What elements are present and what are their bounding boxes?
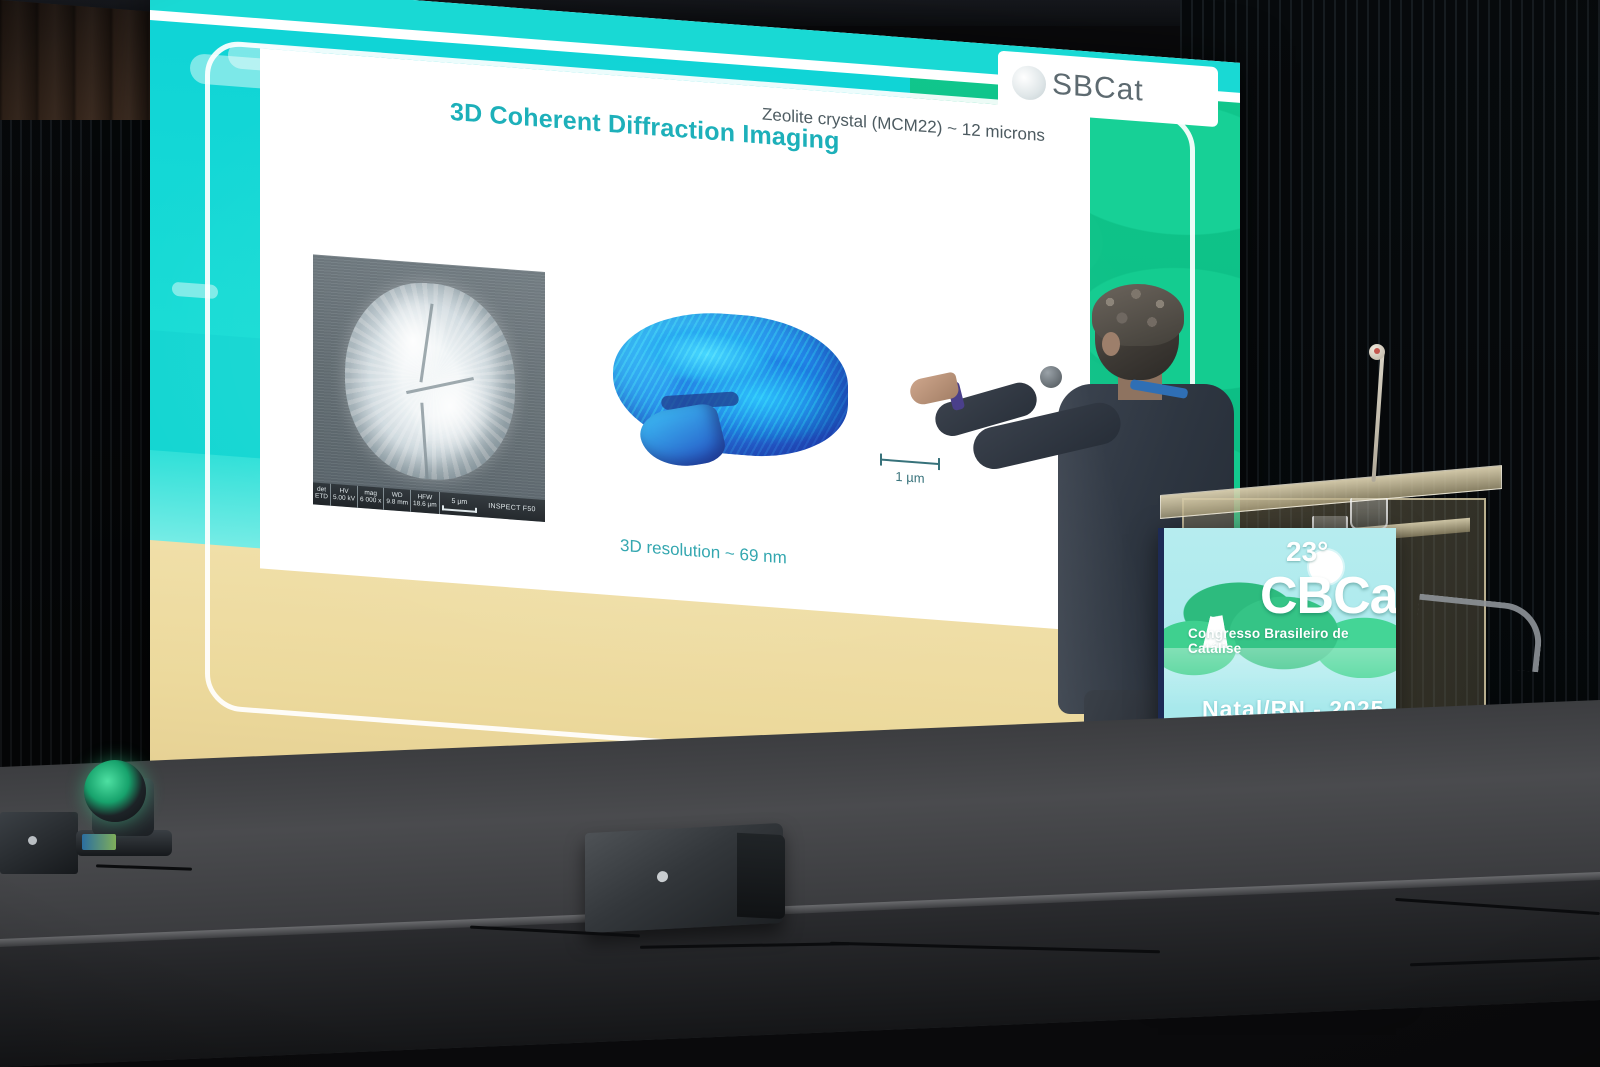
- scale-bar-mid: [880, 459, 940, 466]
- sem-databar-value: ETD: [315, 494, 328, 502]
- sem-databar-cell: det ETD: [313, 482, 331, 505]
- speaker-driver-icon: [28, 836, 37, 845]
- sem-databar-cell: mag 6 000 x: [358, 486, 384, 510]
- micron-scale-bar: 1 µm: [880, 454, 940, 488]
- stage-monitor-speaker: [0, 812, 78, 874]
- sem-databar-value: 18.6 µm: [413, 501, 437, 510]
- water-cup: [1350, 498, 1388, 530]
- presentation-photo-scene: SBCat 3D Coherent Diffraction Imaging Ze…: [0, 0, 1600, 1067]
- moving-head-light: [72, 748, 172, 858]
- sem-databar-cell: HFW 18.6 µm: [411, 490, 440, 514]
- sem-databar-value: 6 000 x: [360, 497, 381, 505]
- sem-databar-value: 5.00 kV: [333, 495, 355, 503]
- sem-scale-bar-line: [442, 505, 477, 513]
- sbcat-logo-text: SBCat: [1052, 68, 1144, 109]
- sem-databar-value: 9.8 mm: [386, 499, 408, 507]
- banner-edition: 23°: [1286, 536, 1328, 568]
- sem-databar-cell: WD 9.8 mm: [384, 488, 411, 512]
- light-lens-icon: [84, 760, 146, 822]
- sbcat-sphere-icon: [1012, 65, 1046, 102]
- handheld-microphone-icon: [1040, 366, 1062, 388]
- speaker-driver-icon: [657, 871, 668, 883]
- zeolite-3d-reconstruction: [605, 295, 855, 489]
- speaker-ear: [1102, 332, 1120, 356]
- sem-databar-cell: HV 5.00 kV: [331, 484, 358, 508]
- gooseneck-microphone-icon: [1369, 344, 1385, 360]
- sem-scale-bar: 5 µm: [440, 492, 479, 517]
- stage-monitor-speaker: [585, 823, 783, 933]
- banner-title: CBCat: [1260, 566, 1396, 626]
- sem-scale-label: 5 µm: [451, 497, 467, 505]
- sem-micrograph-panel: det ETD HV 5.00 kV mag 6 000 x WD 9.8 mm: [313, 254, 545, 522]
- light-display-panel: [82, 834, 116, 850]
